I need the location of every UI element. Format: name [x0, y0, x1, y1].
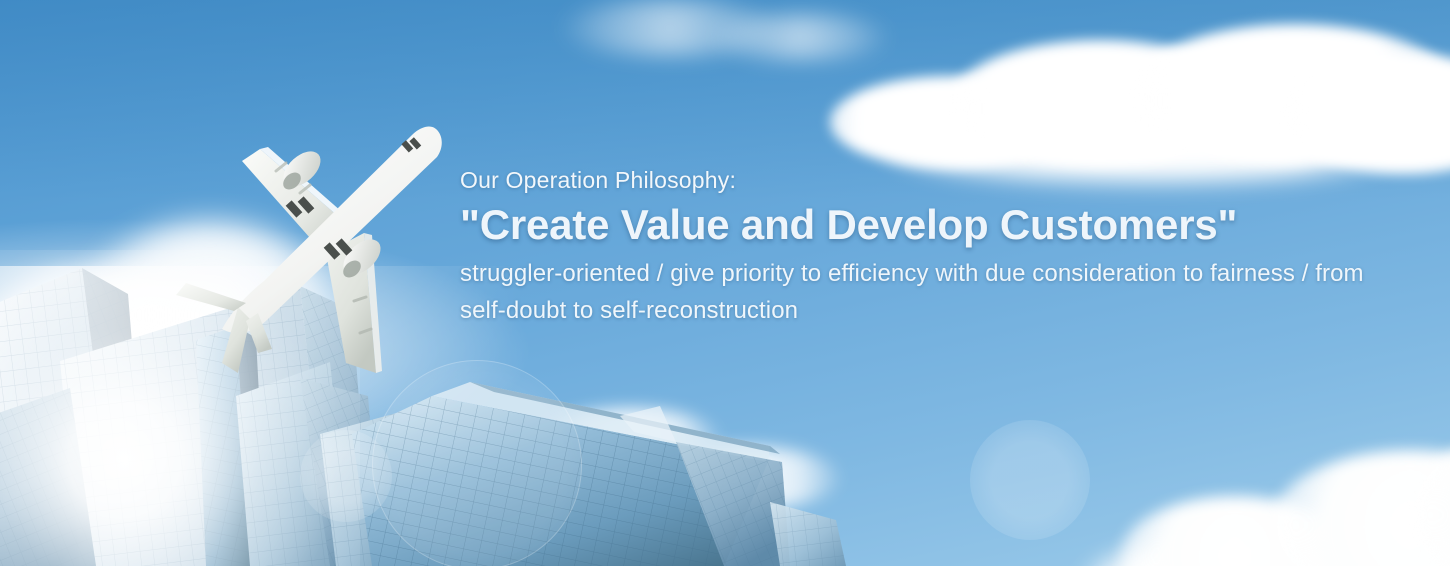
cloud-upper-right [830, 24, 1450, 164]
plane-stabilizer-right [246, 313, 272, 353]
hero-text-block: Our Operation Philosophy: "Create Value … [460, 165, 1410, 329]
philosophy-eyebrow: Our Operation Philosophy: [460, 165, 1410, 195]
plane-stabilizer-left [176, 283, 246, 311]
hero-banner: Our Operation Philosophy: "Create Value … [0, 0, 1450, 566]
philosophy-subline: struggler-oriented / give priority to ef… [460, 255, 1405, 329]
airplane-icon [150, 105, 450, 395]
plane-tail-fin [222, 307, 250, 373]
cloud-mid-bottom [420, 400, 840, 530]
philosophy-headline: "Create Value and Develop Customers" [460, 197, 1410, 253]
cloud-bottom-right [1080, 420, 1450, 566]
